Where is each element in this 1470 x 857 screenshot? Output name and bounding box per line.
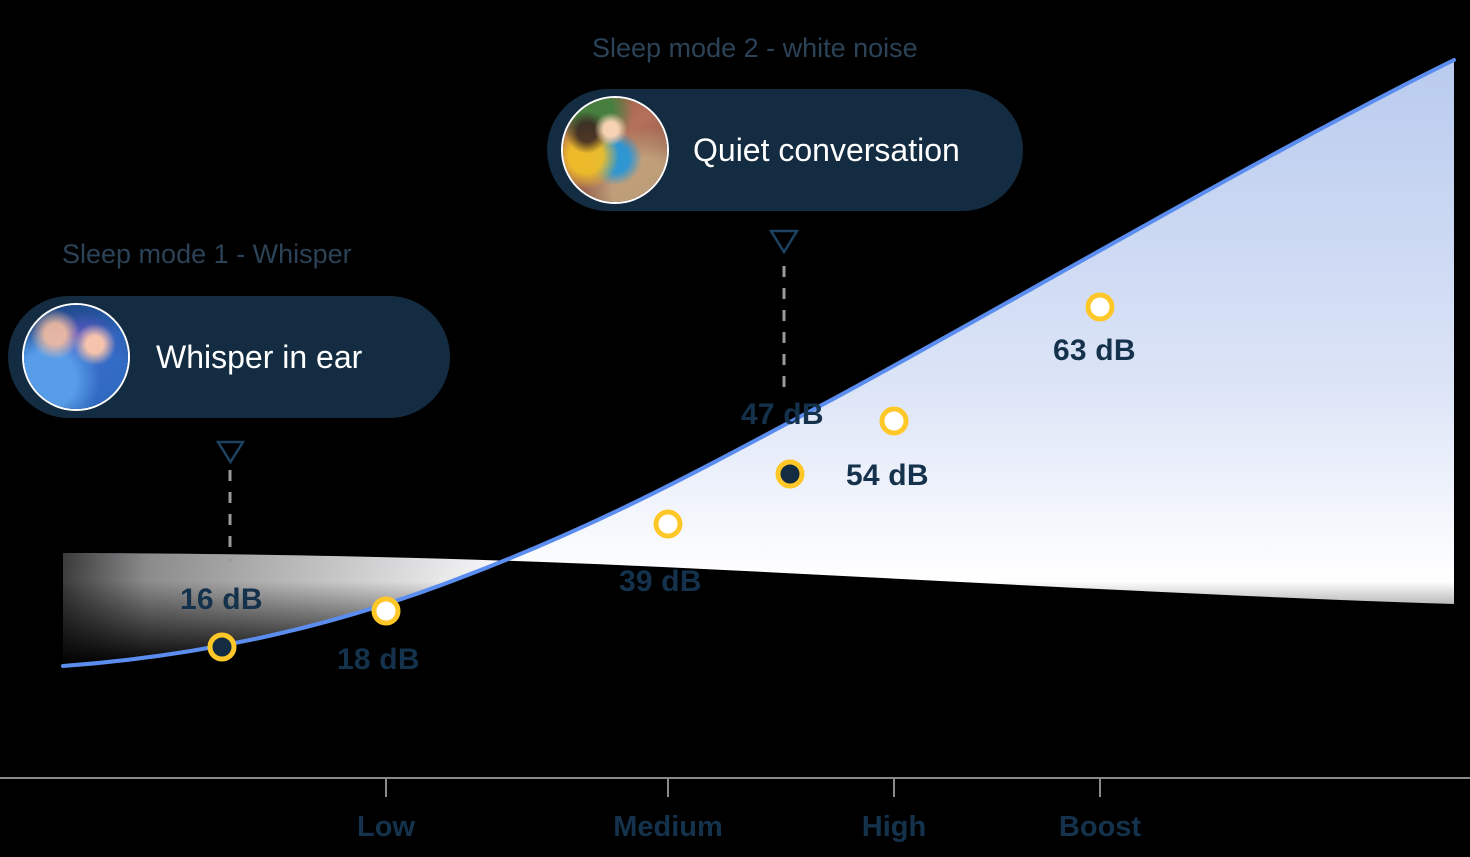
callout-bubble-label-1: Whisper in ear: [156, 341, 362, 373]
data-label-39db: 39 dB: [619, 567, 702, 597]
data-point-marker[interactable]: [374, 599, 398, 623]
noise-level-chart: 16 dB 18 dB 39 dB 47 dB 54 dB 63 dB Low …: [0, 0, 1470, 857]
x-axis-label-boost: Boost: [1059, 813, 1141, 842]
data-label-16db: 16 dB: [180, 585, 263, 615]
data-point-marker[interactable]: [1088, 295, 1112, 319]
x-axis-label-high: High: [862, 813, 926, 842]
callout-title-sleep-mode-1: Sleep mode 1 - Whisper: [62, 241, 352, 268]
data-point-marker[interactable]: [656, 512, 680, 536]
triangle-down-icon-1: [218, 442, 243, 462]
data-label-18db: 18 dB: [337, 645, 420, 675]
triangle-down-icon-2: [771, 231, 797, 252]
data-label-63db: 63 dB: [1053, 336, 1136, 366]
data-point-marker[interactable]: [210, 635, 234, 659]
avatar-couple-talking: [561, 96, 669, 204]
avatar-couple-whispering: [22, 303, 130, 411]
callout-bubble-sleep-mode-1[interactable]: Whisper in ear: [8, 296, 450, 418]
callout-bubble-label-2: Quiet conversation: [693, 134, 960, 166]
data-label-47db: 47 dB: [741, 400, 824, 430]
data-point-marker[interactable]: [778, 462, 802, 486]
data-point-marker[interactable]: [882, 409, 906, 433]
callout-title-sleep-mode-2: Sleep mode 2 - white noise: [592, 35, 918, 62]
x-axis-label-low: Low: [357, 813, 415, 842]
x-axis-label-medium: Medium: [613, 813, 723, 842]
callout-bubble-sleep-mode-2[interactable]: Quiet conversation: [547, 89, 1023, 211]
data-label-54db: 54 dB: [846, 461, 929, 491]
